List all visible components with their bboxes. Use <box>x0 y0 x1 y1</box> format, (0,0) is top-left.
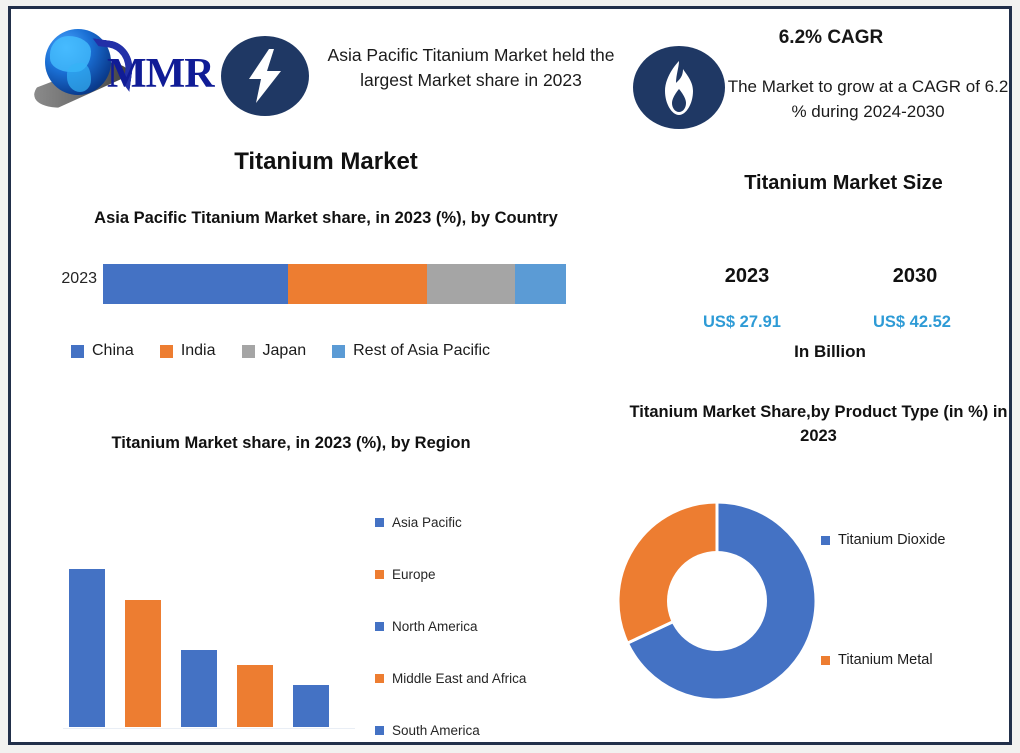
legend-swatch-icon <box>375 622 384 631</box>
country-legend-item: China <box>71 342 134 360</box>
market-size-year-end: 2030 <box>865 265 965 288</box>
legend-label: Japan <box>263 342 307 360</box>
region-legend-item: Asia Pacific <box>375 496 595 548</box>
donut-hole <box>667 551 767 651</box>
legend-swatch-icon <box>375 518 384 527</box>
legend-label: India <box>181 342 216 360</box>
legend-label: Titanium Metal <box>838 652 933 668</box>
region-bar <box>293 685 329 727</box>
region-chart-baseline <box>63 728 355 729</box>
region-legend-item: Europe <box>375 548 595 600</box>
market-size-unit: In Billion <box>725 342 935 362</box>
product-donut-chart <box>617 501 817 701</box>
legend-label: Europe <box>392 567 436 582</box>
infographic-frame: MMR Asia Pacific Titanium Market held th… <box>8 6 1012 745</box>
region-bar <box>181 650 217 727</box>
legend-swatch-icon <box>821 656 830 665</box>
market-size-value-start: US$ 27.91 <box>687 313 797 332</box>
region-chart-title: Titanium Market share, in 2023 (%), by R… <box>61 432 521 456</box>
market-size-value-end: US$ 42.52 <box>857 313 967 332</box>
legend-label: North America <box>392 619 478 634</box>
region-bar <box>125 600 161 727</box>
legend-swatch-icon <box>71 345 84 358</box>
region-bar-chart <box>63 569 363 729</box>
cagr-headline: 6.2% CAGR <box>711 27 951 49</box>
legend-swatch-icon <box>160 345 173 358</box>
legend-label: China <box>92 342 134 360</box>
legend-label: Asia Pacific <box>392 515 462 530</box>
country-legend-item: Japan <box>242 342 307 360</box>
region-legend-item: Middle East and Africa <box>375 652 595 704</box>
legend-label: Middle East and Africa <box>392 671 526 686</box>
product-chart-title: Titanium Market Share,by Product Type (i… <box>621 401 1016 449</box>
logo-text: MMR <box>107 53 214 95</box>
region-legend-item: North America <box>375 600 595 652</box>
legend-swatch-icon <box>821 536 830 545</box>
country-legend-item: Rest of Asia Pacific <box>332 342 490 360</box>
market-size-title: Titanium Market Size <box>671 172 1016 195</box>
country-bar-segment <box>288 264 427 304</box>
page-title: Titanium Market <box>51 148 601 176</box>
region-chart-legend: Asia PacificEuropeNorth AmericaMiddle Ea… <box>375 496 595 753</box>
legend-swatch-icon <box>375 674 384 683</box>
legend-label: South America <box>392 723 480 738</box>
lightning-bolt-icon <box>243 49 287 103</box>
region-bar <box>69 569 105 727</box>
legend-swatch-icon <box>375 570 384 579</box>
country-chart-title: Asia Pacific Titanium Market share, in 2… <box>61 207 591 231</box>
product-chart-legend: Titanium DioxideTitanium Metal <box>821 532 1011 668</box>
country-stacked-bar <box>103 264 566 304</box>
product-legend-item: Titanium Metal <box>821 652 1011 668</box>
market-size-year-start: 2023 <box>697 265 797 288</box>
country-chart-legend: ChinaIndiaJapanRest of Asia Pacific <box>71 342 631 360</box>
country-bar-segment <box>103 264 288 304</box>
legend-label: Rest of Asia Pacific <box>353 342 490 360</box>
cagr-statement: The Market to grow at a CAGR of 6.2 % du… <box>727 75 1009 124</box>
country-bar-segment <box>515 264 566 304</box>
bolt-statement: Asia Pacific Titanium Market held the la… <box>325 43 617 94</box>
infographic-canvas: MMR Asia Pacific Titanium Market held th… <box>0 0 1020 753</box>
flame-icon <box>659 61 699 115</box>
region-legend-item: South America <box>375 704 595 753</box>
country-chart-axis-label: 2023 <box>41 270 97 288</box>
product-legend-item: Titanium Dioxide <box>821 532 1011 548</box>
country-legend-item: India <box>160 342 216 360</box>
legend-swatch-icon <box>375 726 384 735</box>
region-bar <box>237 665 273 727</box>
country-bar-segment <box>427 264 515 304</box>
legend-swatch-icon <box>332 345 345 358</box>
legend-label: Titanium Dioxide <box>838 532 945 548</box>
legend-swatch-icon <box>242 345 255 358</box>
